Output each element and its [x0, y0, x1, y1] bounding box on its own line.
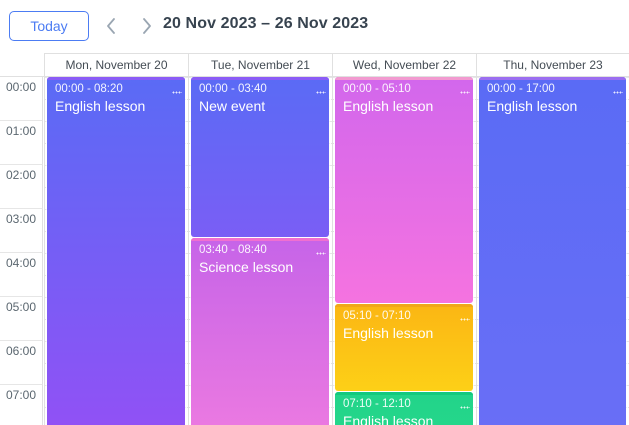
event-resize-handle[interactable] [460, 318, 470, 321]
event-resize-handle[interactable] [460, 91, 470, 94]
time-gutter: 00:0001:0002:0003:0004:0005:0006:0007:00 [0, 77, 44, 425]
day-headers: Mon, November 20Tue, November 21Wed, Nov… [44, 53, 629, 77]
event-title: English lesson [343, 97, 466, 115]
calendar-event[interactable]: 00:00 - 17:00English lesson [479, 77, 626, 425]
day-columns: 00:00 - 08:20English lesson00:00 - 03:40… [44, 77, 629, 425]
day-column[interactable]: 00:00 - 08:20English lesson [44, 77, 188, 425]
event-accent-bar [335, 304, 473, 307]
chevron-right-icon [142, 18, 152, 34]
calendar-event[interactable]: 00:00 - 08:20English lesson [47, 77, 185, 425]
event-time: 00:00 - 03:40 [199, 82, 322, 96]
day-header[interactable]: Thu, November 23 [476, 54, 629, 76]
calendar-event[interactable]: 00:00 - 03:40New event [191, 77, 329, 237]
event-accent-bar [335, 392, 473, 395]
calendar-event[interactable]: 00:00 - 05:10English lesson [335, 77, 473, 303]
event-title: English lesson [55, 97, 178, 115]
day-column[interactable]: 00:00 - 05:10English lesson05:10 - 07:10… [332, 77, 476, 425]
event-accent-bar [335, 77, 473, 80]
event-title: English lesson [343, 412, 466, 425]
calendar-body: 00:0001:0002:0003:0004:0005:0006:0007:00… [0, 77, 629, 425]
day-column[interactable]: 00:00 - 03:40New event03:40 - 08:40Scien… [188, 77, 332, 425]
event-accent-bar [191, 77, 329, 80]
calendar-event[interactable]: 05:10 - 07:10English lesson [335, 304, 473, 391]
hour-label: 03:00 [0, 209, 43, 253]
day-header[interactable]: Wed, November 22 [332, 54, 476, 76]
day-header[interactable]: Tue, November 21 [188, 54, 332, 76]
event-resize-handle[interactable] [460, 406, 470, 409]
hour-label: 06:00 [0, 341, 43, 385]
event-time: 00:00 - 08:20 [55, 82, 178, 96]
calendar-event[interactable]: 07:10 - 12:10English lesson [335, 392, 473, 425]
event-resize-handle[interactable] [172, 91, 182, 94]
hour-label: 01:00 [0, 121, 43, 165]
event-accent-bar [191, 238, 329, 241]
event-title: English lesson [487, 97, 619, 115]
event-accent-bar [479, 77, 626, 80]
calendar-app: Today 20 Nov 2023 – 26 Nov 2023 Mon, Nov… [0, 0, 629, 425]
event-title: Science lesson [199, 258, 322, 276]
event-title: English lesson [343, 324, 466, 342]
event-title: New event [199, 97, 322, 115]
today-button[interactable]: Today [9, 11, 89, 41]
hour-label: 02:00 [0, 165, 43, 209]
day-header[interactable]: Mon, November 20 [44, 54, 188, 76]
hour-label: 05:00 [0, 297, 43, 341]
event-resize-handle[interactable] [316, 91, 326, 94]
hour-label: 07:00 [0, 385, 43, 425]
navigation-arrows [100, 14, 158, 38]
hour-label: 00:00 [0, 77, 43, 121]
event-time: 00:00 - 05:10 [343, 82, 466, 96]
calendar-event[interactable]: 03:40 - 08:40Science lesson [191, 238, 329, 425]
calendar-toolbar: Today 20 Nov 2023 – 26 Nov 2023 [0, 0, 629, 52]
day-column[interactable]: 00:00 - 17:00English lesson [476, 77, 629, 425]
hour-label: 04:00 [0, 253, 43, 297]
event-time: 00:00 - 17:00 [487, 82, 619, 96]
event-resize-handle[interactable] [316, 252, 326, 255]
grid-corner [0, 53, 44, 77]
event-time: 03:40 - 08:40 [199, 243, 322, 257]
chevron-left-icon [106, 18, 116, 34]
event-resize-handle[interactable] [613, 91, 623, 94]
event-accent-bar [47, 77, 185, 80]
event-time: 07:10 - 12:10 [343, 397, 466, 411]
previous-week-button[interactable] [100, 14, 122, 38]
event-time: 05:10 - 07:10 [343, 309, 466, 323]
next-week-button[interactable] [136, 14, 158, 38]
date-range-title: 20 Nov 2023 – 26 Nov 2023 [163, 15, 368, 33]
